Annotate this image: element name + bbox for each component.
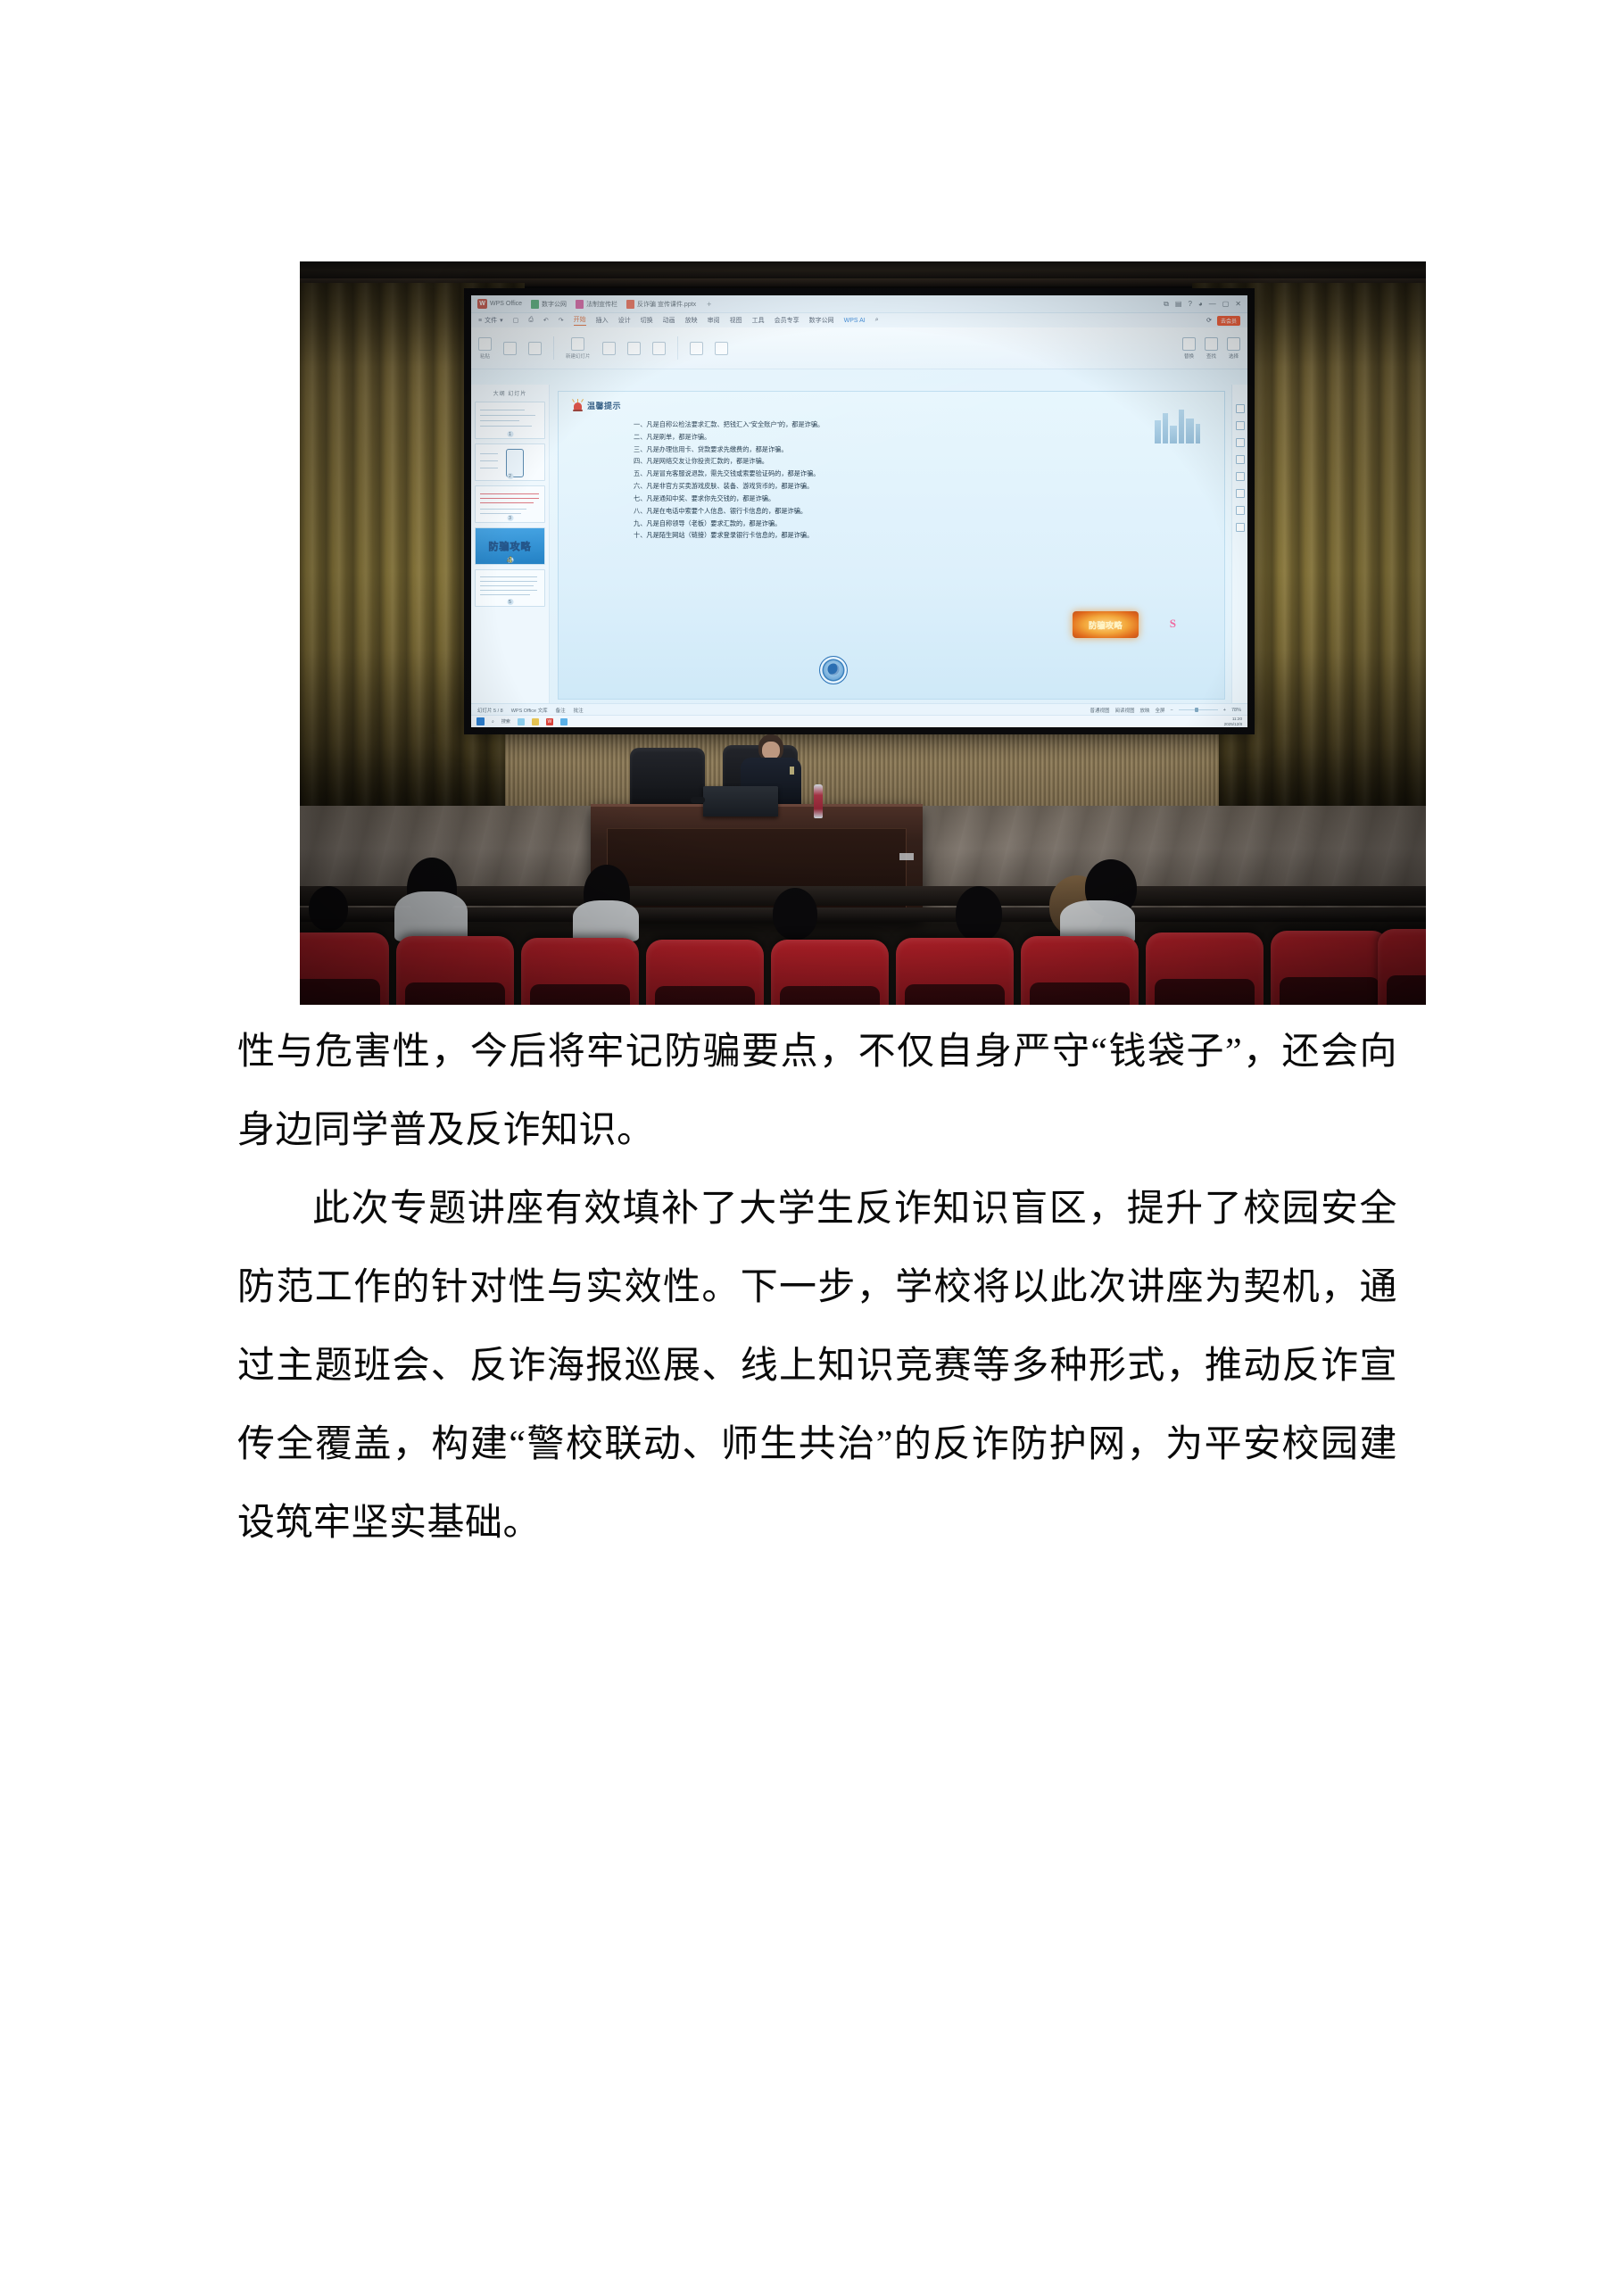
slide-thumbnail[interactable]: 2: [475, 443, 545, 481]
slide-editing-stage[interactable]: 温馨提示 一、凡是自称公检法要求汇款、把钱汇入“安全账户”的，都是诈骗。 二、凡…: [550, 385, 1231, 704]
police-emblem-icon: [819, 656, 848, 684]
slide-count-label: 幻灯片 5 / 8: [477, 707, 503, 714]
audience-hood: [573, 900, 639, 941]
maximize-button[interactable]: ▢: [1222, 300, 1230, 308]
tip-item: 五、凡是冒充客服说退款，需先交钱或索要验证码的，都是诈骗。: [634, 468, 1224, 480]
projection-screen-frame: W WPS Office 数字公网 法制宣传栏: [464, 288, 1255, 734]
podium-label: [899, 853, 914, 860]
hamburger-icon: ≡: [478, 318, 482, 324]
ribbon-select[interactable]: 选择: [1227, 337, 1240, 360]
tip-item: 七、凡是通知中奖、要求你先交钱的，都是诈骗。: [634, 493, 1224, 505]
auditorium-seat: [1271, 931, 1388, 1005]
ribbon-paragraph-group[interactable]: [715, 342, 728, 355]
auditorium-seat: [300, 932, 389, 1005]
file-menu-button[interactable]: ≡ 文件 ▾: [478, 316, 503, 325]
slide-header: 温馨提示: [559, 392, 1224, 411]
audience-head: [309, 886, 348, 931]
slide-thumbnail-poster[interactable]: 防骗攻略 4: [475, 527, 545, 565]
pink-mark: S: [1170, 617, 1176, 631]
audience-head: [956, 886, 1002, 941]
slide-number: 4: [507, 557, 513, 563]
lecture-photo: W WPS Office 数字公网 法制宣传栏: [300, 261, 1426, 1005]
upgrade-button[interactable]: 去会员: [1217, 316, 1240, 326]
wps-library-label[interactable]: WPS Office 文库: [511, 707, 548, 714]
tab-digital[interactable]: 数字公网: [809, 316, 834, 325]
slide-number: 3: [507, 515, 513, 521]
tip-item: 十、凡是陌生网站（链接）要求登录银行卡信息的，都是诈骗。: [634, 529, 1224, 542]
photo-scene: W WPS Office 数字公网 法制宣传栏: [300, 261, 1426, 1005]
audience-hood: [394, 891, 468, 941]
current-slide[interactable]: 温馨提示 一、凡是自称公检法要求汇款、把钱汇入“安全账户”的，都是诈骗。 二、凡…: [558, 391, 1225, 700]
auditorium-seat: [1021, 936, 1139, 1005]
ribbon-find-label: 查找: [1206, 352, 1216, 360]
fullscreen-button[interactable]: 全屏: [1156, 707, 1165, 714]
history-icon[interactable]: ⟳: [1206, 317, 1212, 324]
tip-item: 一、凡是自称公检法要求汇款、把钱汇入“安全账户”的，都是诈骗。: [634, 419, 1224, 431]
ribbon-format-painter[interactable]: [528, 342, 542, 355]
edge-icon[interactable]: [560, 718, 568, 725]
chart-icon[interactable]: [1236, 472, 1245, 481]
wps-icon[interactable]: W: [546, 718, 553, 725]
ribbon-paste[interactable]: 粘贴: [478, 337, 492, 360]
slide-thumbnail-active[interactable]: 5: [475, 569, 545, 607]
notes-button[interactable]: 备注: [556, 707, 566, 714]
slideshow-button[interactable]: 放映: [1140, 707, 1150, 714]
folder-icon[interactable]: [532, 718, 539, 725]
more-icon[interactable]: [1236, 523, 1245, 532]
tip-item: 四、凡是网络交友让你投资汇款的，都是诈骗。: [634, 455, 1224, 468]
document-body: 性与危害性，今后将牢记防骗要点，不仅自身严守“钱袋子”，还会向身边同学普及反诈知…: [237, 1013, 1397, 1562]
document-page: W WPS Office 数字公网 法制宣传栏: [0, 0, 1624, 2296]
auditorium-seat: [1146, 932, 1264, 1005]
tab-slideshow[interactable]: 放映: [685, 316, 698, 325]
tip-item: 三、凡是办理信用卡、贷款要求先缴费的，都是诈骗。: [634, 443, 1224, 456]
tab-tools[interactable]: 工具: [752, 316, 765, 325]
slide-thumbnail[interactable]: 1: [475, 402, 545, 439]
template-icon[interactable]: [1236, 404, 1245, 413]
reading-view-button[interactable]: 阅读视图: [1115, 707, 1135, 714]
ribbon-new-slide[interactable]: 新建幻灯片: [566, 337, 591, 360]
wps-logo-icon: W: [477, 299, 487, 309]
paste-icon: [478, 337, 492, 351]
save-icon[interactable]: ▢: [513, 317, 519, 324]
tip-item: 六、凡是非官方买卖游戏皮肤、装备、游戏货币的，都是诈骗。: [634, 480, 1224, 493]
auditorium-seat: [771, 940, 889, 1005]
audience-head: [773, 888, 817, 940]
avatar-icon[interactable]: ◕: [1198, 300, 1203, 308]
ribbon-replace[interactable]: 替换: [1182, 337, 1196, 360]
minimize-button[interactable]: —: [1209, 300, 1216, 308]
doc-tab-label: 反诈骗 宣传课件.pptx: [637, 300, 696, 309]
right-side-toolbar[interactable]: [1231, 385, 1247, 704]
section-icon: [652, 342, 666, 355]
find-icon: [1205, 337, 1218, 351]
close-button[interactable]: ✕: [1235, 300, 1241, 308]
tab-home[interactable]: 开始: [574, 315, 586, 326]
star-icon[interactable]: [1236, 421, 1245, 430]
tab-animation[interactable]: 动画: [663, 316, 675, 325]
ai-slide-icon: [602, 342, 616, 355]
layout-icon: [627, 342, 641, 355]
tab-view[interactable]: 视图: [730, 316, 742, 325]
help-icon[interactable]: ?: [1188, 300, 1191, 308]
thumbnail-pane-header: 大纲 幻灯片: [475, 389, 545, 397]
ribbon-separator: [553, 336, 554, 360]
wps-status-bar: 幻灯片 5 / 8 WPS Office 文库 备注 批注 普通视图 阅读视图 …: [471, 703, 1247, 716]
wps-work-area: 大纲 幻灯片 1: [471, 385, 1247, 704]
search-icon[interactable]: ⌕: [875, 317, 879, 324]
scissors-icon: [503, 342, 517, 355]
format-painter-icon: [528, 342, 542, 355]
ribbon-select-label: 选择: [1229, 352, 1239, 360]
windows-taskbar: ⌕ 搜索 W 11:20 2025/12/8: [471, 715, 1247, 727]
ribbon-right-controls: ⟳ 去会员: [1206, 316, 1240, 326]
taskbar-clock[interactable]: 11:20 2025/12/8: [1224, 717, 1242, 726]
auditorium-seat: [896, 938, 1014, 1005]
water-bottle: [814, 784, 823, 818]
ribbon-layout[interactable]: [627, 342, 641, 355]
doc-tab-icon: [531, 300, 539, 309]
normal-view-button[interactable]: 普通视图: [1090, 707, 1109, 714]
tab-design[interactable]: 设计: [618, 316, 631, 325]
microphone: [691, 797, 705, 803]
wps-title-bar: W WPS Office 数字公网 法制宣传栏: [471, 295, 1247, 313]
ribbon-replace-label: 替换: [1184, 352, 1194, 360]
anti-fraud-tips-list: 一、凡是自称公检法要求汇款、把钱汇入“安全账户”的，都是诈骗。 二、凡是刷单，都…: [598, 419, 1224, 542]
ribbon-new-slide-label: 新建幻灯片: [566, 352, 591, 360]
paragraph-1: 性与危害性，今后将牢记防骗要点，不仅自身严守“钱袋子”，还会向身边同学普及反诈知…: [237, 1013, 1397, 1170]
window-controls: ⧉ ▤ ? ◕ — ▢ ✕: [1164, 300, 1241, 309]
slide-thumbnail-pane[interactable]: 大纲 幻灯片 1: [471, 385, 550, 704]
zoom-level-label: 78%: [1231, 708, 1241, 713]
file-menu-label: 文件: [485, 316, 497, 325]
doc-tab-icon: [626, 300, 634, 309]
stage-edge: [300, 908, 1426, 922]
font-icon: [690, 342, 703, 355]
auditorium-seat: [396, 936, 514, 1005]
slide-thumbnail[interactable]: 3: [475, 485, 545, 523]
weather-icon[interactable]: [518, 718, 525, 725]
seat-back-rail: [300, 886, 1426, 906]
poster-title: 防骗攻略: [489, 539, 532, 553]
building-illustration-icon: [1153, 406, 1201, 443]
ribbon-body: 粘贴 新建幻灯片: [471, 327, 1247, 369]
start-icon[interactable]: [476, 717, 485, 725]
ribbon-find[interactable]: 查找: [1205, 337, 1218, 360]
wps-brand: W WPS Office: [477, 299, 522, 309]
ribbon-font-group[interactable]: [690, 342, 703, 355]
share-icon[interactable]: ⧉: [1164, 300, 1169, 309]
alarm-light-icon: [573, 400, 583, 411]
search-icon[interactable]: ⌕: [492, 719, 494, 725]
doc-tab-label: 法制宣传栏: [586, 300, 617, 309]
tab-review[interactable]: 审阅: [708, 316, 720, 325]
ribbon-separator: [677, 336, 678, 360]
new-tab-button[interactable]: +: [707, 300, 711, 309]
undo-icon[interactable]: ↶: [543, 317, 549, 324]
replace-icon: [1182, 337, 1196, 351]
ribbon-ai-slide[interactable]: [602, 342, 616, 355]
auditorium-seat: [521, 938, 639, 1005]
wps-brand-label: WPS Office: [490, 301, 522, 307]
slide-number: 2: [507, 473, 513, 479]
redo-icon[interactable]: ↷: [559, 317, 564, 324]
ribbon-cut[interactable]: [503, 342, 517, 355]
comment-button[interactable]: 批注: [574, 707, 584, 714]
tip-item: 九、凡是自称领导（老板）要求汇款的，都是诈骗。: [634, 518, 1224, 530]
slide-number: 5: [507, 599, 513, 605]
backup-icon[interactable]: ▤: [1175, 300, 1182, 308]
clock-date: 2025/12/8: [1224, 722, 1242, 726]
doc-tab-2[interactable]: 法制宣传栏: [576, 300, 617, 309]
new-slide-icon: [571, 337, 584, 351]
slide-number: 1: [507, 431, 513, 437]
slide-title: 温馨提示: [587, 400, 621, 411]
ribbon-section[interactable]: [652, 342, 666, 355]
shape-icon[interactable]: [1236, 489, 1245, 498]
resource-icon[interactable]: [1236, 438, 1245, 447]
doc-tab-1[interactable]: 数字公网: [531, 300, 567, 309]
laptop: [703, 786, 778, 816]
pen-icon[interactable]: [1236, 506, 1245, 515]
speaker-face: [762, 742, 780, 759]
zoom-slider[interactable]: [1179, 709, 1218, 711]
projection-screen: W WPS Office 数字公网 法制宣传栏: [471, 295, 1247, 727]
doc-tab-label: 数字公网: [542, 300, 567, 309]
select-icon: [1227, 337, 1240, 351]
auditorium-seat: [646, 940, 764, 1005]
anti-fraud-banner: 防骗攻略: [1073, 611, 1139, 638]
ribbon-paste-label: 粘贴: [480, 352, 490, 360]
status-right-controls: 普通视图 阅读视图 放映 全屏 − + 78%: [1090, 707, 1241, 714]
globe-icon: [828, 664, 840, 676]
paragraph-icon: [715, 342, 728, 355]
auditorium-seat: [1378, 929, 1426, 1005]
paragraph-2: 此次专题讲座有效填补了大学生反诈知识盲区，提升了校园安全防范工作的针对性与实效性…: [237, 1170, 1397, 1562]
ribbon-tab-strip: ≡ 文件 ▾ ▢ ⎙ ↶ ↷ 开始 插入 设计 切换 动画 放映: [471, 313, 1247, 327]
print-icon[interactable]: ⎙: [528, 317, 534, 324]
zoom-out-button[interactable]: −: [1171, 708, 1173, 713]
ribbon-right-group: 替换 查找 选择: [1182, 337, 1240, 360]
zoom-in-button[interactable]: +: [1223, 708, 1226, 713]
search-placeholder[interactable]: 搜索: [501, 718, 510, 725]
tab-member[interactable]: 会员专享: [775, 316, 800, 325]
doc-tab-icon: [576, 300, 584, 309]
tab-transition[interactable]: 切换: [641, 316, 653, 325]
tab-insert[interactable]: 插入: [596, 316, 609, 325]
image-icon[interactable]: [1236, 455, 1245, 464]
tab-wps-ai[interactable]: WPS AI: [844, 318, 866, 324]
chevron-down-icon: ▾: [500, 317, 503, 324]
tip-item: 八、凡是在电话中索要个人信息、银行卡信息的，都是诈骗。: [634, 505, 1224, 518]
doc-tab-3-active[interactable]: 反诈骗 宣传课件.pptx: [626, 300, 696, 309]
speaker-badge-icon: [790, 767, 794, 775]
tip-item: 二、凡是刷单，都是诈骗。: [634, 431, 1224, 443]
